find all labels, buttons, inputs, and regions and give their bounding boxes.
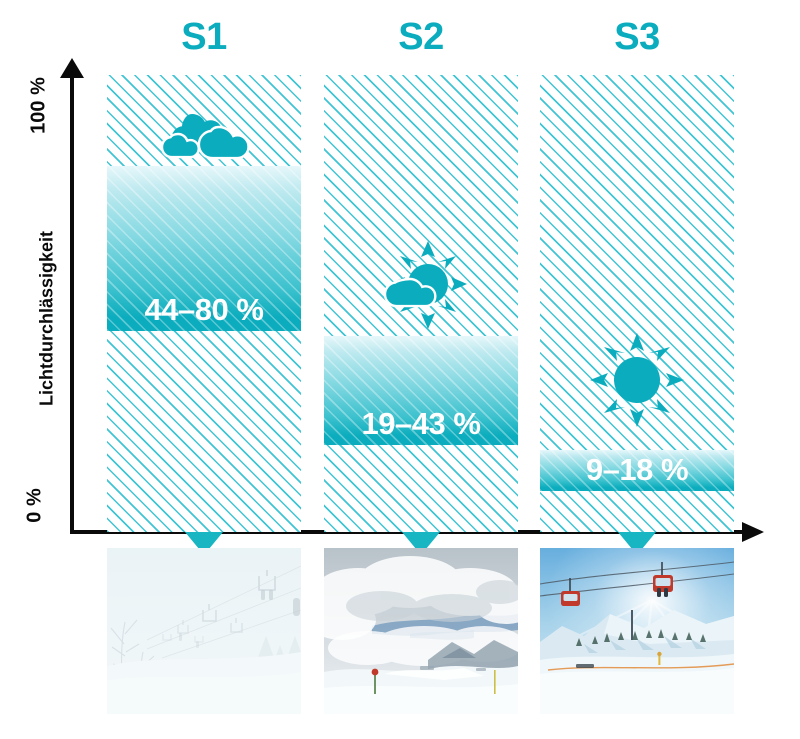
sun-icon (587, 330, 687, 435)
bar-column-s3: 9–18 % (540, 75, 734, 532)
photo-s1-foggy-ski-lift (107, 548, 301, 714)
column-header-s3: S3 (540, 18, 734, 56)
y-axis-tick-100: 100 % (28, 61, 51, 151)
bar-value-label-s3: 9–18 % (540, 454, 734, 485)
bar-fill-s1: 44–80 % (107, 166, 301, 331)
photo-s3-sunny-ski-resort (540, 548, 734, 714)
column-header-s2: S2 (324, 18, 518, 56)
y-axis-arrowhead-icon (60, 58, 84, 78)
sun-behind-cloud-icon (371, 235, 471, 340)
bar-fill-s2: 19–43 % (324, 336, 518, 446)
y-axis-line (70, 74, 74, 534)
bar-column-s1: 44–80 % (107, 75, 301, 532)
photo-s2-cloudy-mountain-slope (324, 548, 518, 714)
column-header-s1: S1 (107, 18, 301, 56)
y-axis-tick-0: 0 % (24, 461, 47, 551)
bar-fill-s3: 9–18 % (540, 450, 734, 491)
infographic-canvas: S1 S2 S3 100 % 0 % Lichtdurchlässigkeit … (0, 0, 800, 739)
bar-column-s2: 19–43 % (324, 75, 518, 532)
x-axis-arrowhead-icon (742, 522, 764, 542)
bar-value-label-s2: 19–43 % (324, 408, 518, 439)
bar-value-label-s1: 44–80 % (107, 294, 301, 325)
y-axis-title: Lichtdurchlässigkeit (37, 199, 58, 439)
